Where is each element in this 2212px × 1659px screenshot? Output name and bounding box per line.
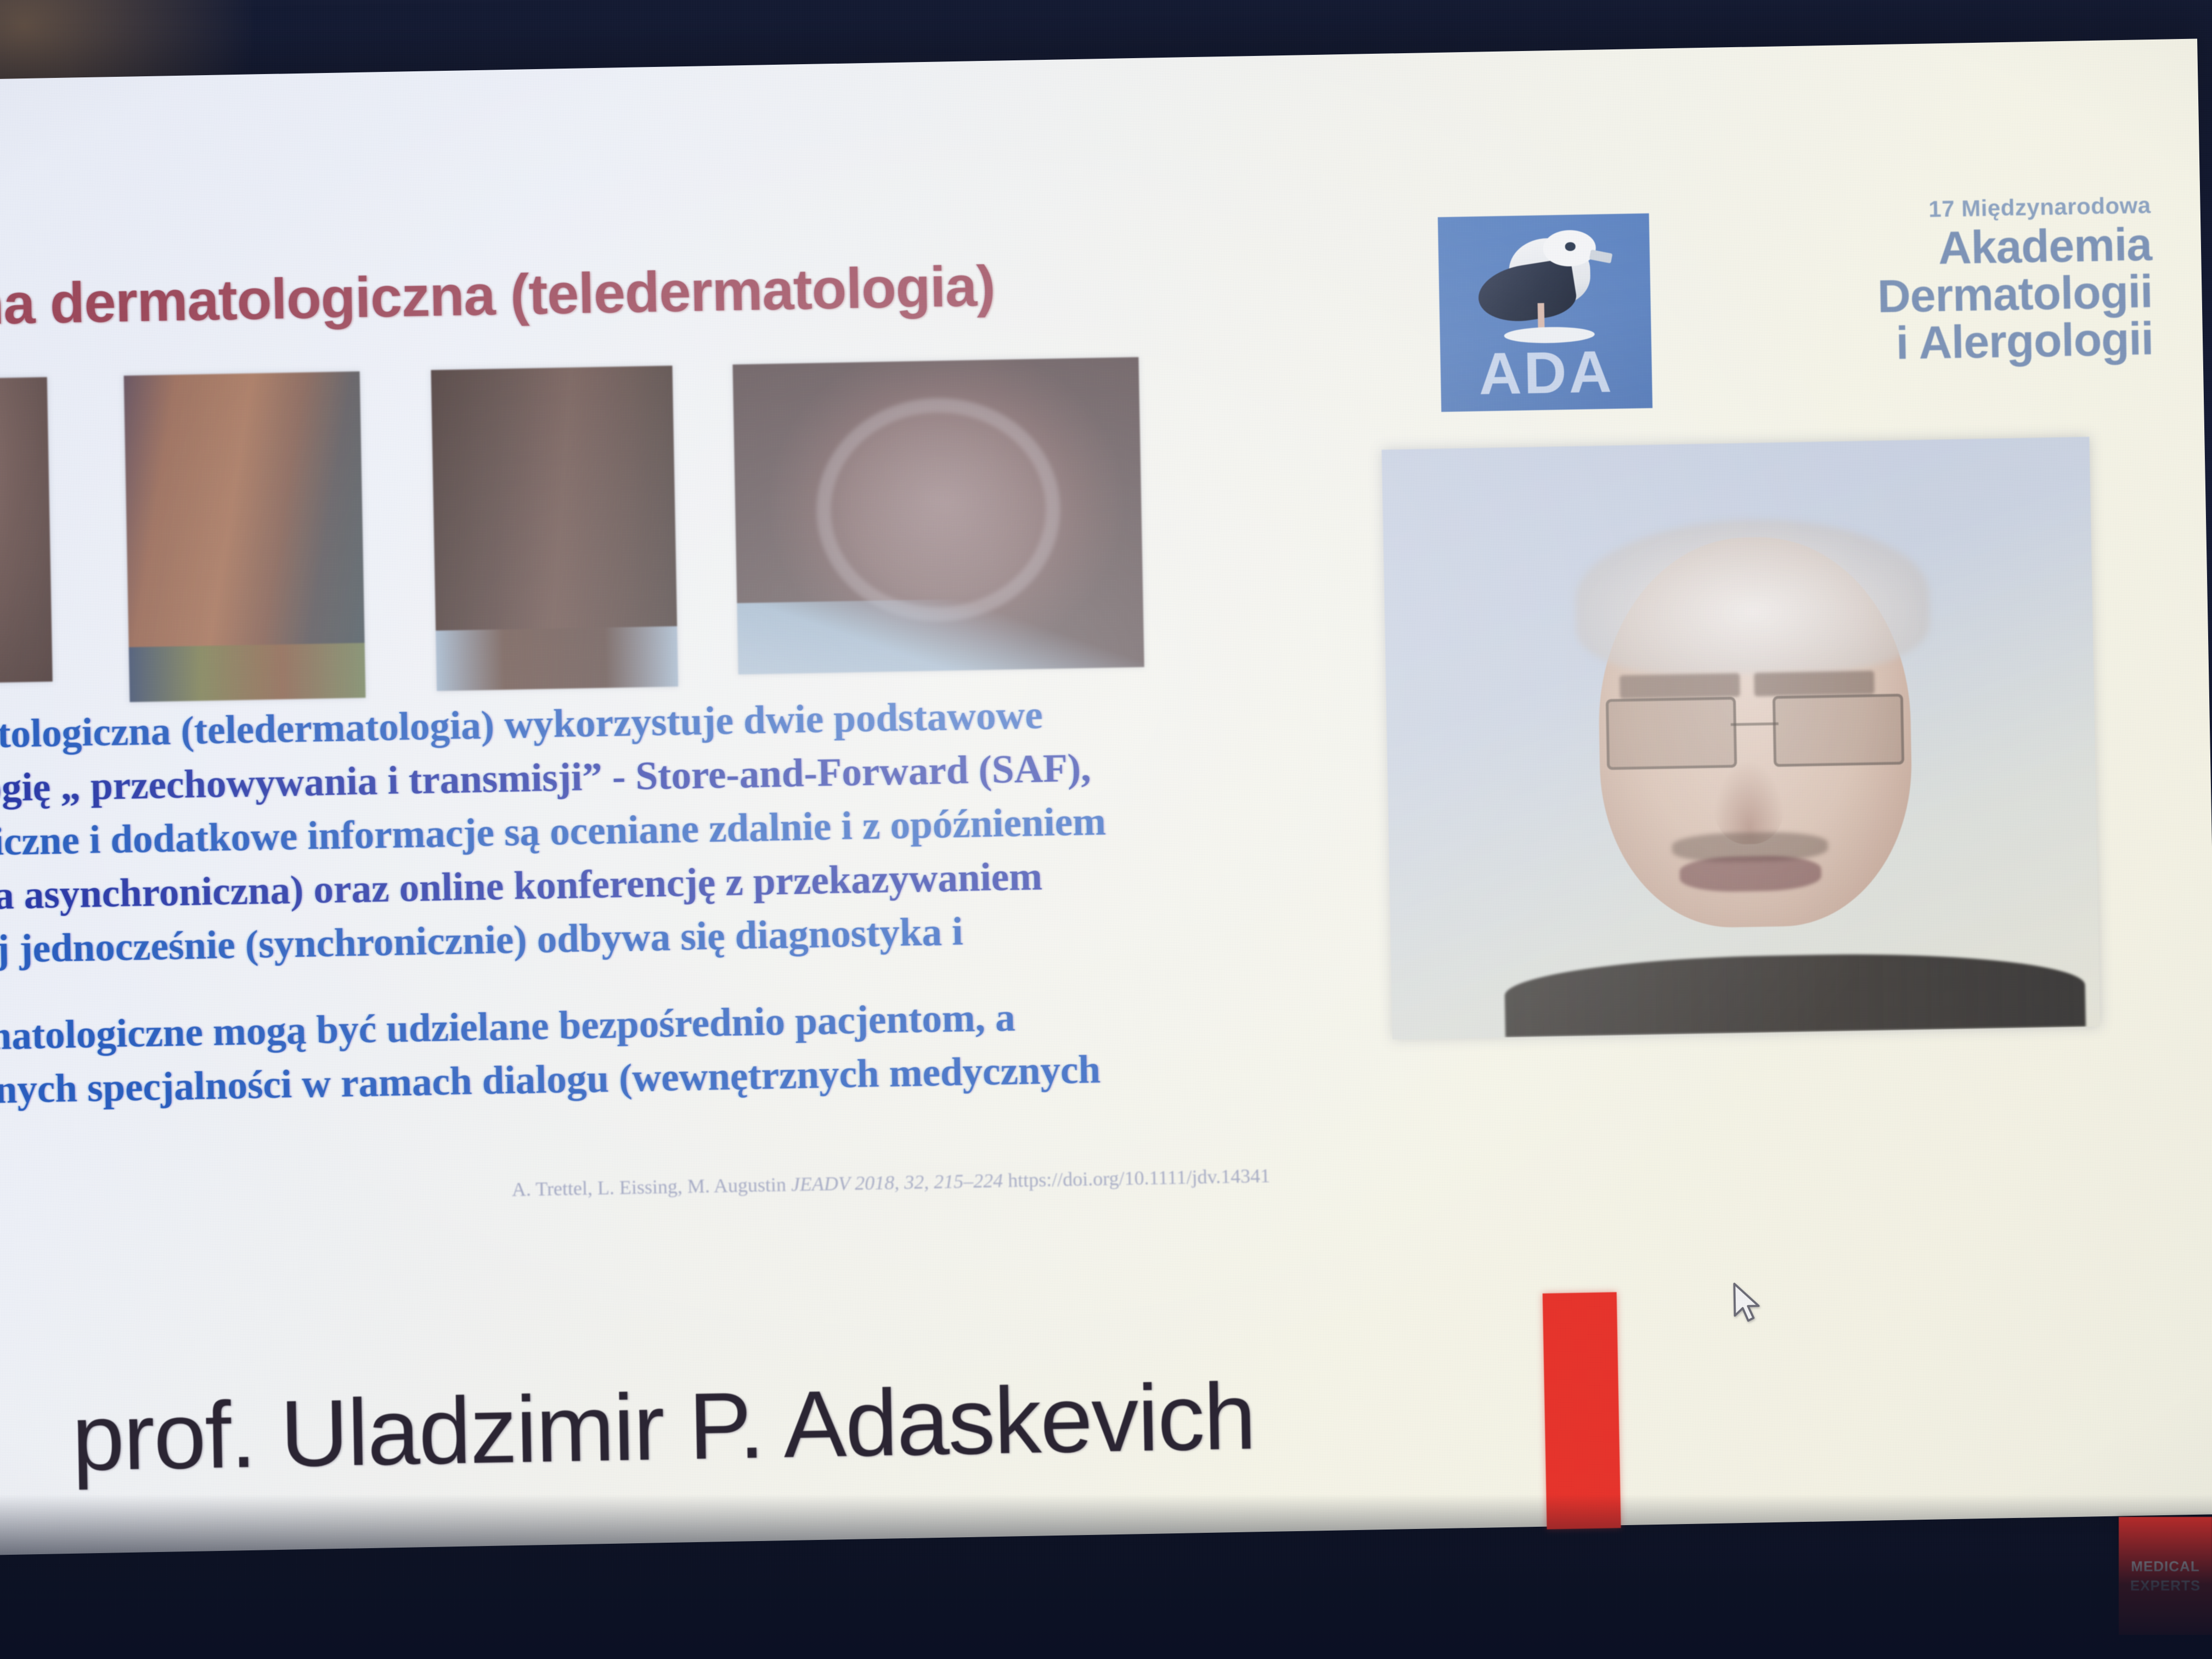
conference-line-3: i Alergologii (1719, 315, 2153, 370)
accent-bar (1543, 1292, 1621, 1529)
slide-citation: A. Trettel, L. Eissing, M. Augustin JEAD… (512, 1164, 1271, 1201)
speaker-video-tile[interactable] (1381, 437, 2100, 1039)
ada-logo: ADA (1438, 213, 1652, 412)
clinical-photo-strip (0, 354, 1288, 731)
slide-content: ycyna dermatologiczna (teledermatologia)… (0, 38, 2212, 1297)
conference-heading: 17 Międzynarodowa Akademia Dermatologii … (1717, 192, 2154, 370)
speaker-shoulders (1504, 950, 2086, 1037)
ada-logo-text: ADA (1440, 336, 1652, 409)
citation-authors: A. Trettel, L. Eissing, M. Augustin (512, 1173, 787, 1200)
clinical-photo-4 (732, 357, 1144, 674)
speaker-eyebrow-right (1754, 671, 1875, 697)
speaker-mouth (1679, 855, 1821, 893)
clinical-photo-1 (0, 377, 53, 685)
citation-journal: JEADV 2018, 32, 215–224 (791, 1170, 1003, 1195)
clinical-photo-2 (124, 371, 366, 702)
badge-line-1: MEDICAL (2131, 1559, 2199, 1573)
slide-body-text: a dermatologiczna (teledermatologia) wyk… (0, 682, 1377, 1119)
clinical-photo-3 (431, 366, 679, 691)
citation-doi: https://doi.org/10.1111/jdv.14341 (1008, 1165, 1271, 1192)
medical-experts-badge: MEDICAL EXPERTS (2119, 1517, 2212, 1635)
photograph-stage: ycyna dermatologiczna (teledermatologia)… (0, 0, 2212, 1659)
slide-title: ycyna dermatologiczna (teledermatologia) (0, 247, 1385, 340)
glasses-icon (1606, 694, 1904, 764)
speaker-name: prof. Uladzimir P. Adaskevich (71, 1362, 1256, 1492)
badge-line-2: EXPERTS (2130, 1578, 2200, 1593)
speaker-eyebrow-left (1620, 673, 1740, 699)
speaker-hair (1574, 516, 1931, 676)
projection-screen: ycyna dermatologiczna (teledermatologia)… (0, 38, 2212, 1555)
arrow-cursor-icon (1731, 1281, 1764, 1325)
seagull-icon (1468, 229, 1626, 353)
